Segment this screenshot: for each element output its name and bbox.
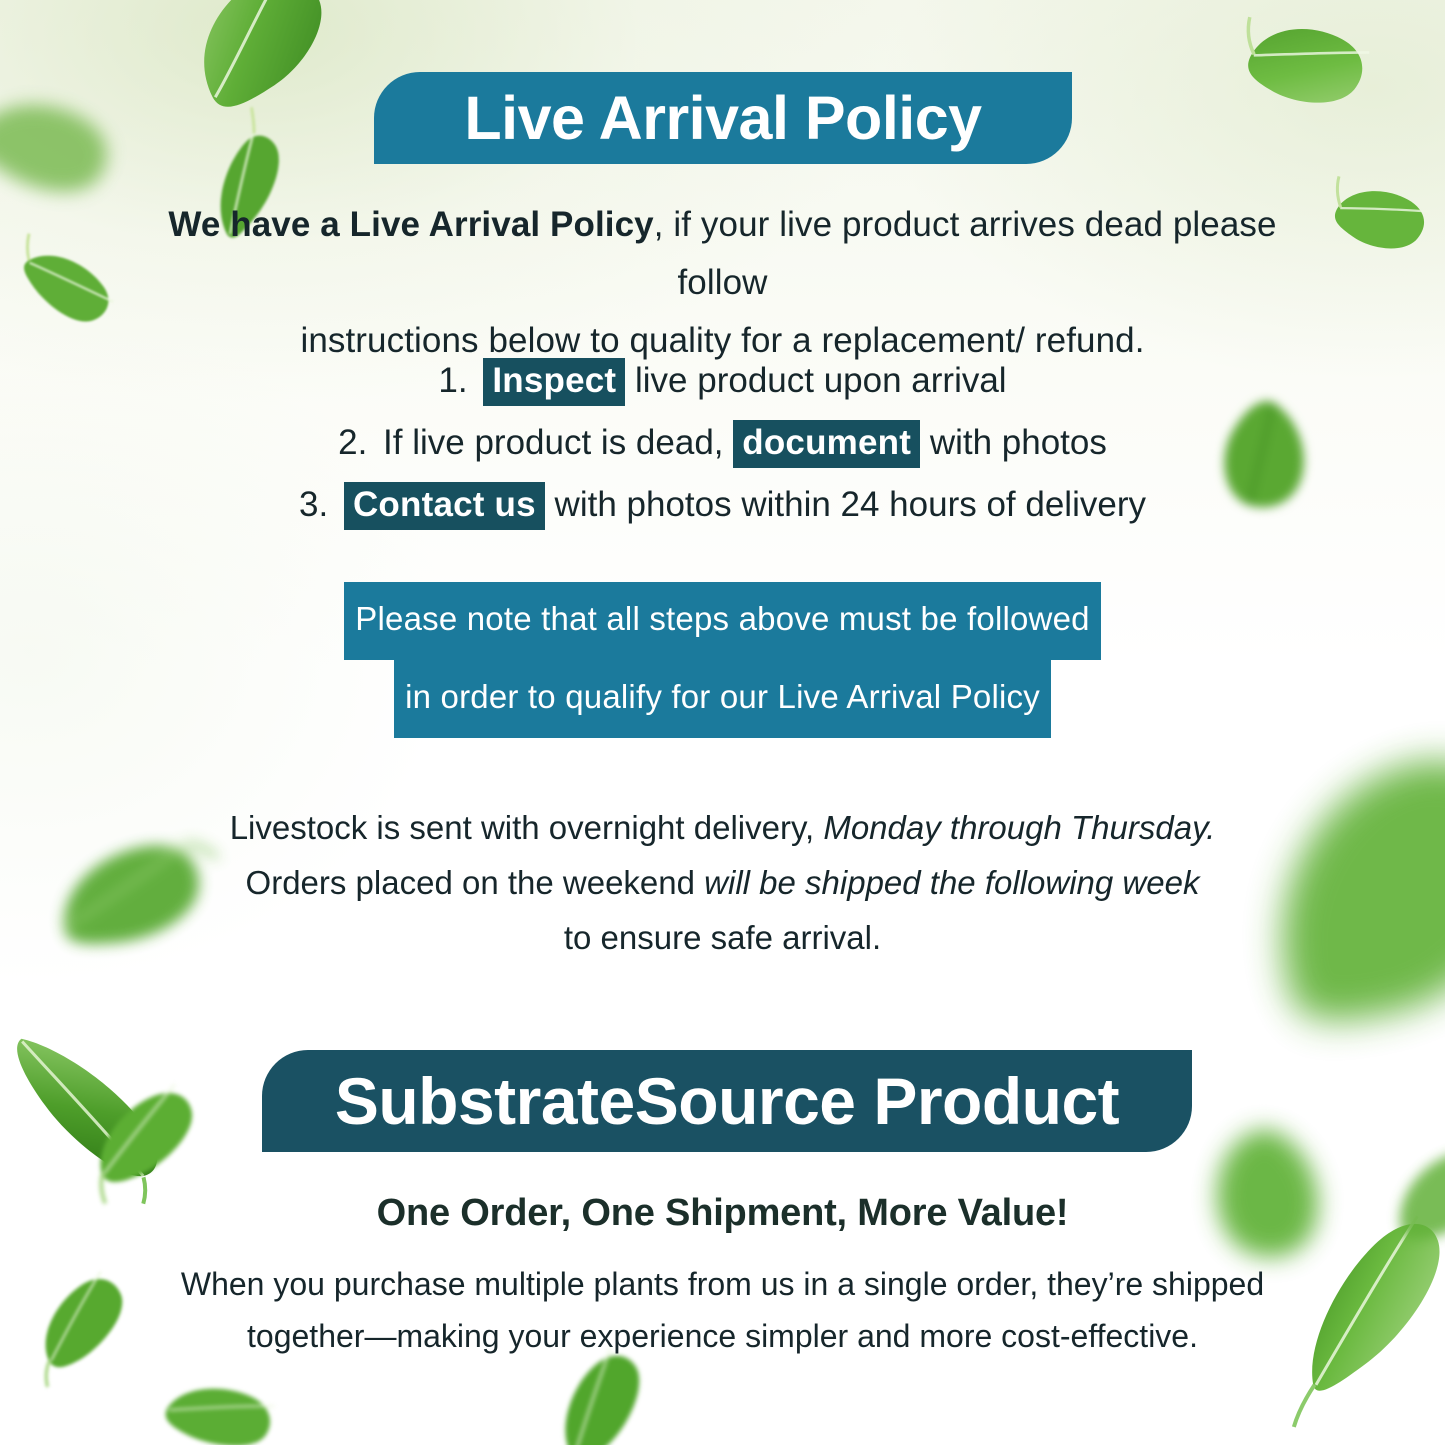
closing-paragraph: When you purchase multiple plants from u…: [150, 1258, 1295, 1362]
shipping-line-2-italic: will be shipped the following week: [704, 864, 1199, 901]
policy-note-line-2: in order to qualify for our Live Arrival…: [394, 660, 1051, 738]
step-2-after: with photos: [930, 423, 1107, 462]
policy-note: Please note that all steps above must be…: [150, 582, 1295, 738]
shipping-paragraph: Livestock is sent with overnight deliver…: [165, 800, 1280, 965]
step-2-highlight: document: [733, 420, 920, 468]
policy-note-row-1: Please note that all steps above must be…: [150, 582, 1295, 660]
closing-line-2: together—making your experience simpler …: [150, 1310, 1295, 1362]
shipping-line-1: Livestock is sent with overnight deliver…: [165, 800, 1280, 855]
poster-canvas: Live Arrival Policy We have a Live Arriv…: [0, 0, 1445, 1445]
intro-paragraph: We have a Live Arrival Policy, if your l…: [150, 196, 1295, 370]
step-2-before: If live product is dead,: [383, 423, 723, 462]
live-arrival-policy-title: Live Arrival Policy: [464, 83, 981, 153]
step-item-3: 3. Contact us with photos within 24 hour…: [150, 474, 1295, 536]
policy-note-line-1: Please note that all steps above must be…: [344, 582, 1100, 660]
shipping-line-2: Orders placed on the weekend will be shi…: [165, 855, 1280, 910]
step-item-2: 2. If live product is dead, document wit…: [150, 412, 1295, 474]
step-3-number: 3.: [299, 485, 328, 524]
step-1-after: live product upon arrival: [635, 361, 1007, 400]
policy-note-row-2: in order to qualify for our Live Arrival…: [150, 660, 1295, 738]
step-1-highlight: Inspect: [483, 358, 625, 406]
steps-list: 1. Inspect live product upon arrival 2. …: [150, 350, 1295, 536]
shipping-line-3: to ensure safe arrival.: [165, 910, 1280, 965]
closing-line-1: When you purchase multiple plants from u…: [150, 1258, 1295, 1310]
substratesource-product-banner: SubstrateSource Product: [262, 1050, 1192, 1152]
shipping-line-1-plain: Livestock is sent with overnight deliver…: [230, 809, 814, 846]
live-arrival-policy-banner: Live Arrival Policy: [374, 72, 1072, 164]
step-3-highlight: Contact us: [344, 482, 545, 530]
step-item-1: 1. Inspect live product upon arrival: [150, 350, 1295, 412]
intro-line-1-rest: , if your live product arrives dead plea…: [654, 205, 1277, 302]
intro-bold-lead: We have a Live Arrival Policy: [168, 205, 653, 244]
intro-line-1: We have a Live Arrival Policy, if your l…: [150, 196, 1295, 312]
step-3-after: with photos within 24 hours of delivery: [555, 485, 1146, 524]
shipping-line-2-plain: Orders placed on the weekend: [246, 864, 695, 901]
step-1-number: 1.: [438, 361, 467, 400]
poster-content: Live Arrival Policy We have a Live Arriv…: [0, 0, 1445, 1445]
shipping-line-1-italic: Monday through Thursday.: [823, 809, 1215, 846]
step-2-number: 2.: [338, 423, 367, 462]
value-proposition-heading: One Order, One Shipment, More Value!: [150, 1192, 1295, 1235]
substratesource-product-title: SubstrateSource Product: [335, 1063, 1119, 1139]
